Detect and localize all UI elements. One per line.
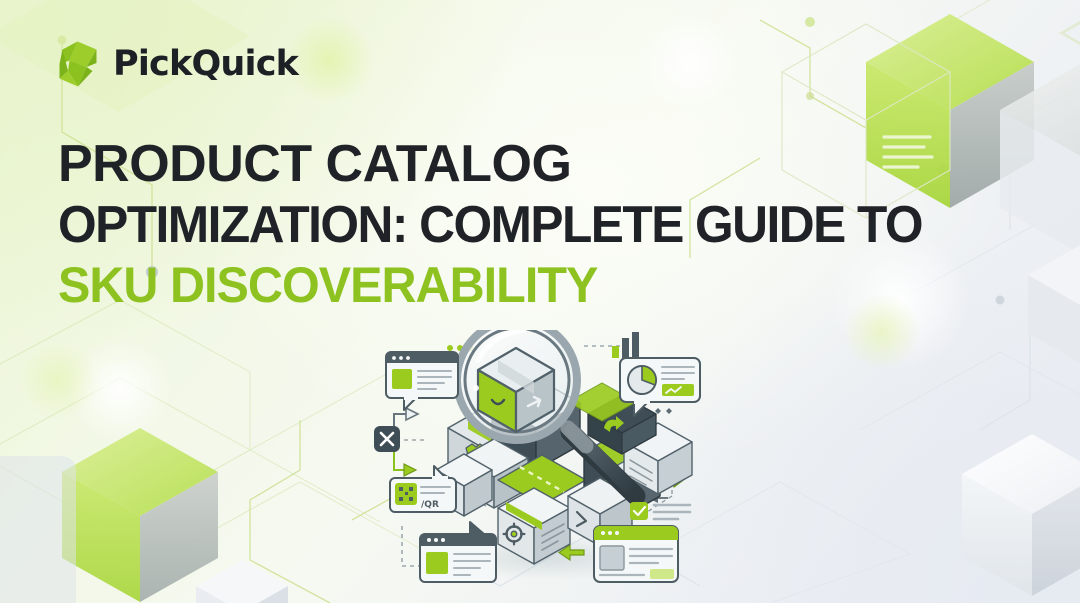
magnifying-glass-icon: [455, 330, 579, 442]
close-x-badge: [374, 426, 400, 452]
browser-window-bubble-top-left: [386, 352, 458, 410]
hero-banner: PickQuick PRODUCT CATALOG OPTIMIZATION: …: [0, 0, 1080, 603]
page-title: PRODUCT CATALOG OPTIMIZATION: COMPLETE G…: [58, 138, 1048, 310]
brand-logo[interactable]: PickQuick: [56, 40, 298, 88]
isometric-product-catalog-search-illustration: /QR: [372, 330, 712, 592]
qr-label: /QR: [421, 500, 439, 510]
bar-chart-icon-top: [612, 332, 639, 358]
browser-window-bubble-bottom-right: [594, 526, 678, 582]
headline-line-3: SKU DISCOVERABILITY: [58, 260, 1018, 310]
check-badge-icon: [630, 502, 690, 520]
headline-line-2: OPTIMIZATION: COMPLETE GUIDE TO: [58, 199, 1003, 251]
browser-window-bubble-bottom-left: [420, 522, 496, 582]
pie-chart-icon: [628, 366, 656, 394]
brand-name: PickQuick: [113, 47, 298, 82]
headline-line-1: PRODUCT CATALOG: [58, 138, 1048, 190]
lightning-bolt-hexagon-icon: [56, 40, 100, 88]
